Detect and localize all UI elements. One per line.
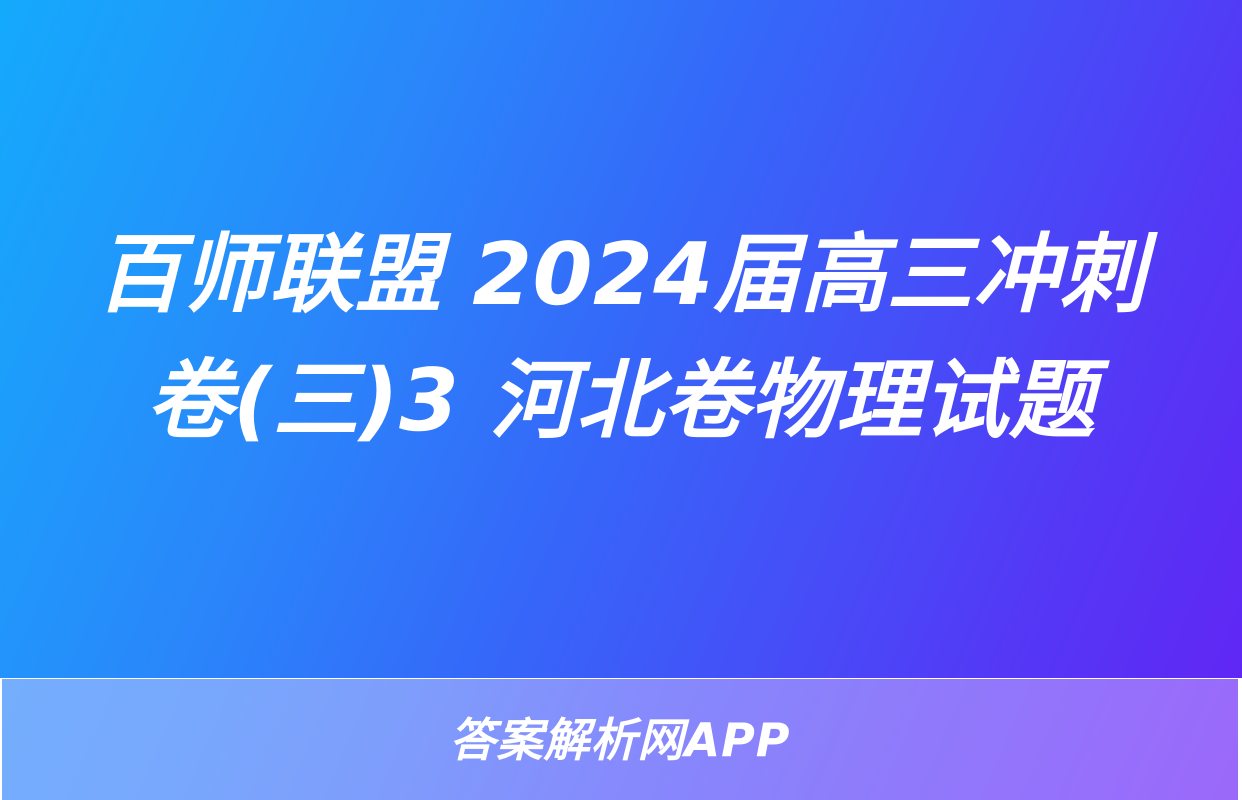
page-title: 百师联盟 2024届高三冲刺卷(三)3 河北卷物理试题 [60,213,1182,464]
footer-watermark-bar: 答案解析网APP [2,679,1238,800]
watermark-label: 答案解析网APP [449,717,790,763]
hero-banner: 百师联盟 2024届高三冲刺卷(三)3 河北卷物理试题 [0,0,1242,678]
page-root: 百师联盟 2024届高三冲刺卷(三)3 河北卷物理试题 答案解析网APP [0,0,1242,800]
